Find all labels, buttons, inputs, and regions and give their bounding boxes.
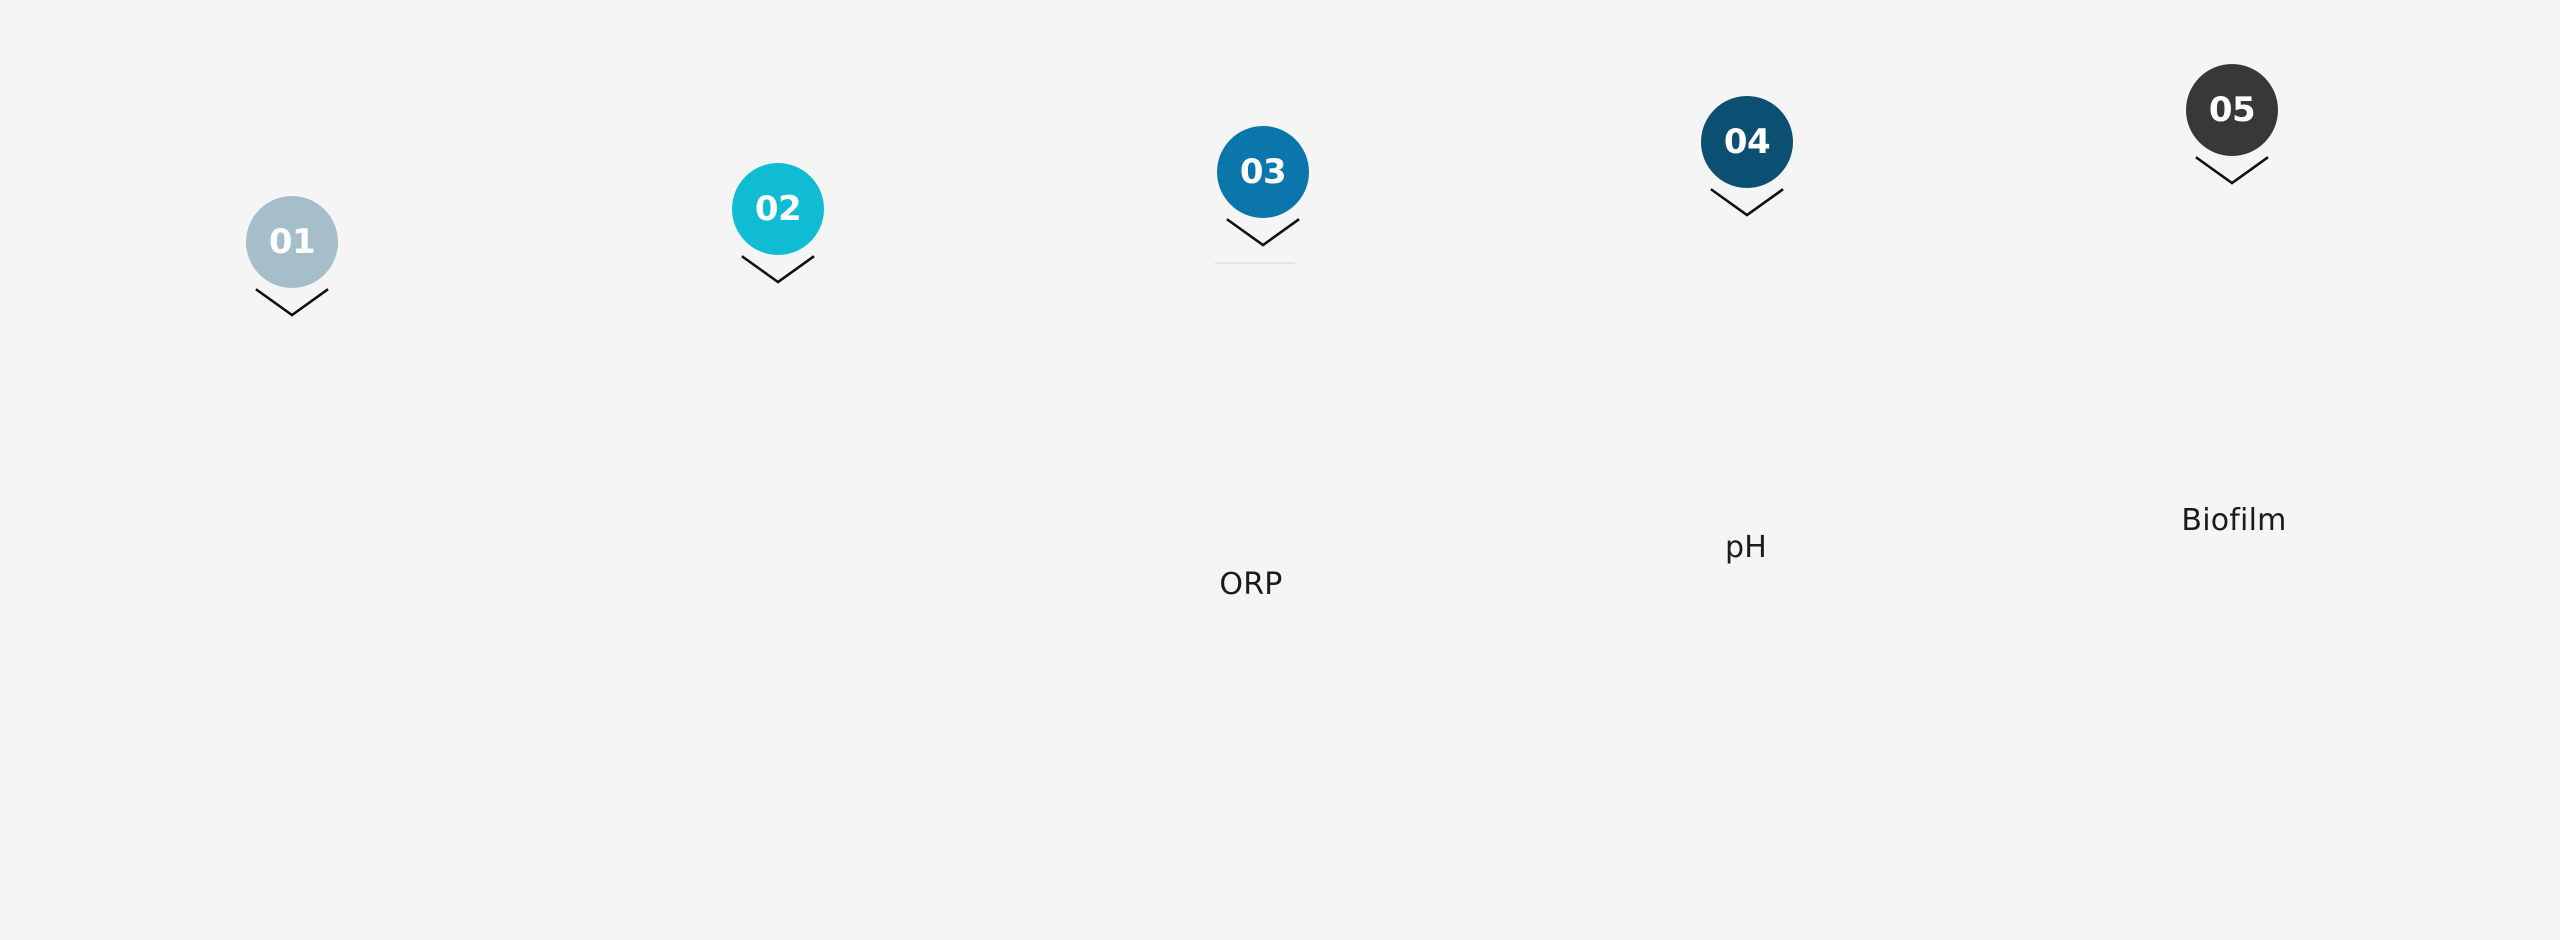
faint-rule-decoration xyxy=(1215,262,1295,264)
step-marker-01-number: 01 xyxy=(269,225,315,259)
step-marker-02-number: 02 xyxy=(755,192,801,226)
step-marker-01-circle[interactable]: 01 xyxy=(246,196,338,288)
step-marker-03-circle[interactable]: 03 xyxy=(1217,126,1309,218)
step-marker-02-circle[interactable]: 02 xyxy=(732,163,824,255)
step-marker-04[interactable]: 04 xyxy=(1701,96,1793,188)
step-marker-04-number: 04 xyxy=(1724,125,1770,159)
step-marker-05-number: 05 xyxy=(2209,93,2255,127)
chevron-down-icon xyxy=(1710,188,1784,218)
marker-stage: 01 02 03 04 xyxy=(0,0,2560,940)
step-marker-01[interactable]: 01 xyxy=(246,196,338,288)
caption-biofilm: Biofilm xyxy=(2181,503,2286,539)
chevron-down-icon xyxy=(741,255,815,285)
caption-orp: ORP xyxy=(1219,567,1282,603)
step-marker-04-circle[interactable]: 04 xyxy=(1701,96,1793,188)
step-marker-03-number: 03 xyxy=(1240,155,1286,189)
caption-ph: pH xyxy=(1725,530,1767,566)
chevron-down-icon xyxy=(1226,218,1300,248)
step-marker-03[interactable]: 03 xyxy=(1217,126,1309,218)
step-marker-02[interactable]: 02 xyxy=(732,163,824,255)
chevron-down-icon xyxy=(2195,156,2269,186)
step-marker-05[interactable]: 05 xyxy=(2186,64,2278,156)
chevron-down-icon xyxy=(255,288,329,318)
step-marker-05-circle[interactable]: 05 xyxy=(2186,64,2278,156)
